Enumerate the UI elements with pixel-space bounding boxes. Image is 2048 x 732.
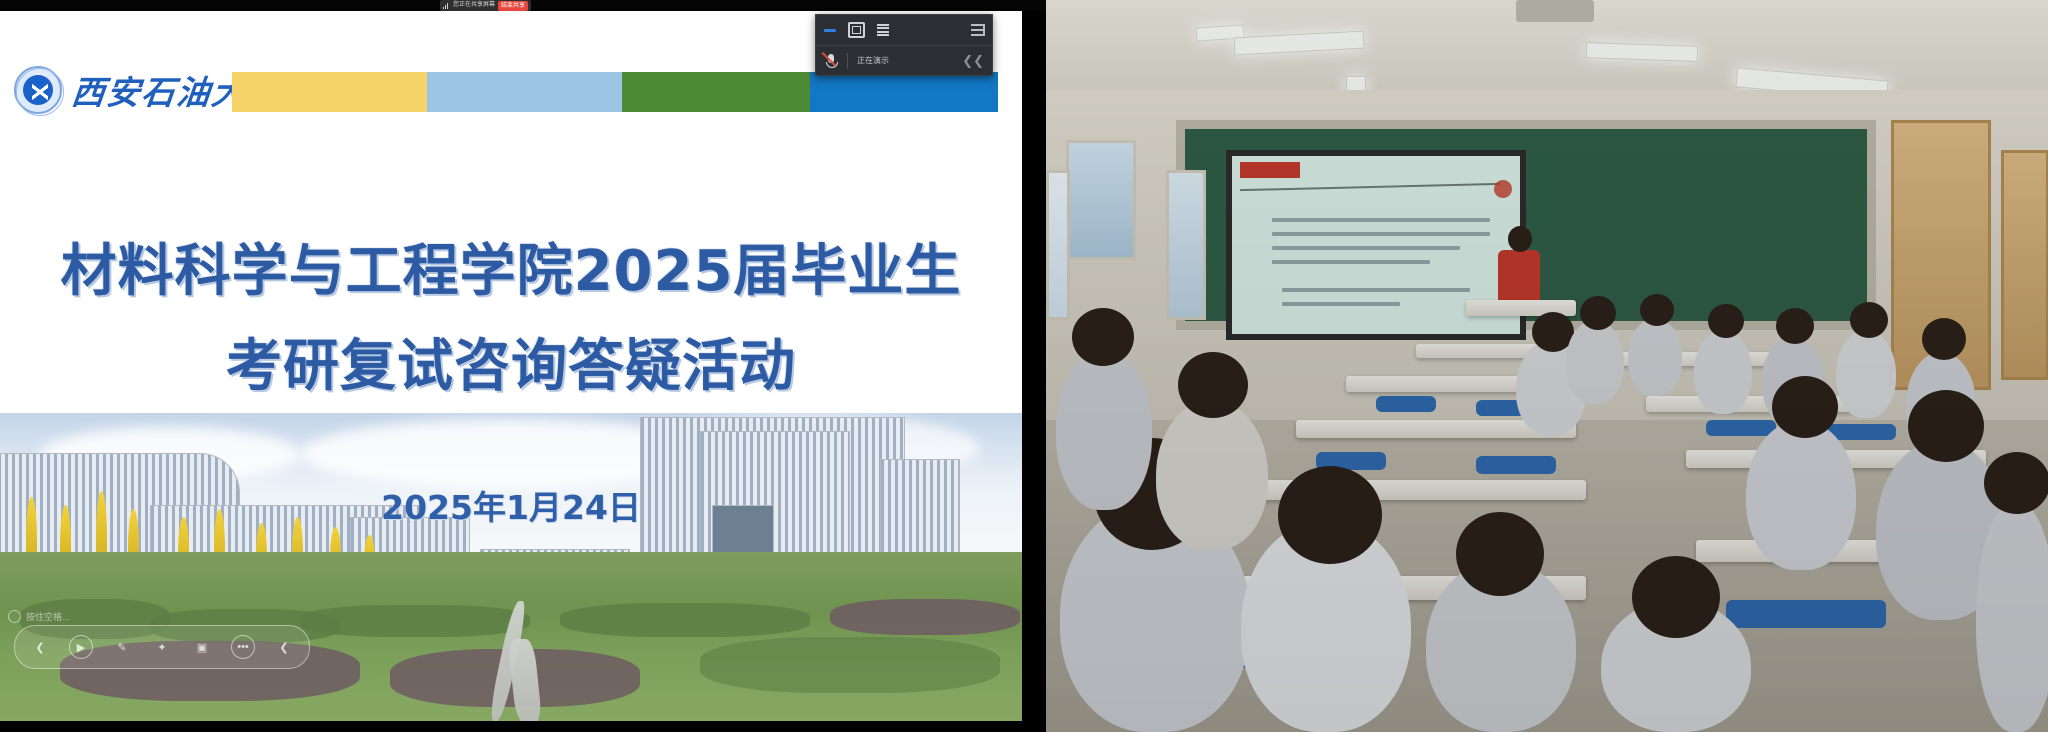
xsyu-university-seal-icon bbox=[14, 66, 62, 114]
student-head bbox=[1072, 308, 1134, 366]
projected-slide-accent bbox=[1240, 162, 1300, 178]
stop-share-button[interactable]: 结束共享 bbox=[498, 1, 528, 11]
minimize-icon[interactable] bbox=[824, 29, 836, 32]
side-window bbox=[1166, 170, 1206, 320]
restore-window-icon[interactable] bbox=[848, 22, 865, 38]
student-chair bbox=[1376, 396, 1436, 412]
bar-lightblue bbox=[427, 72, 622, 112]
projected-slide-badge bbox=[1494, 180, 1512, 198]
slide-title-line-1: 材料科学与工程学院2025届毕业生 bbox=[0, 226, 1022, 307]
bar-blue bbox=[810, 72, 998, 112]
presenter-hint: 按住空格... bbox=[8, 610, 70, 623]
camera-button[interactable]: ▣ bbox=[191, 636, 213, 658]
presenter-hint-text: 按住空格... bbox=[26, 610, 70, 623]
play-slideshow-button[interactable]: ▶ bbox=[69, 635, 93, 659]
student-chair bbox=[1476, 456, 1556, 474]
student-head bbox=[1456, 512, 1544, 596]
slide-canvas: 西安石油大學 材料科学与工程学院2025届毕业生 考研复试咨询答疑活动 bbox=[0, 11, 1022, 721]
more-options-button[interactable]: ••• bbox=[231, 635, 255, 659]
student-head bbox=[1178, 352, 1248, 418]
student-head bbox=[1922, 318, 1966, 360]
expand-panel-icon[interactable] bbox=[971, 24, 984, 36]
laser-pointer-button[interactable]: ✦ bbox=[151, 636, 173, 658]
student-head bbox=[1580, 296, 1616, 330]
student-head bbox=[1908, 390, 1984, 462]
student-head bbox=[1850, 302, 1888, 338]
student-head bbox=[1984, 452, 2048, 514]
student-head bbox=[1708, 304, 1744, 338]
bar-yellow bbox=[232, 72, 427, 112]
screen-share-banner[interactable]: 您正在共享屏幕 结束共享 bbox=[440, 0, 531, 11]
seated-students bbox=[1056, 350, 1152, 510]
side-window bbox=[1046, 170, 1070, 320]
student-head bbox=[1278, 466, 1382, 564]
chevron-double-left-icon[interactable]: ❮❮ bbox=[962, 54, 984, 67]
slide-date: 2025年1月24日 bbox=[0, 481, 1022, 529]
bar-green bbox=[622, 72, 810, 112]
student-chair bbox=[1726, 600, 1886, 628]
toolbar-window-controls[interactable] bbox=[816, 15, 992, 46]
seated-students bbox=[1566, 320, 1624, 404]
seated-students bbox=[1628, 318, 1682, 396]
seated-students bbox=[1746, 420, 1856, 570]
presenter-control-bar[interactable]: ❮ ▶ ✎ ✦ ▣ ••• ❮ bbox=[14, 625, 310, 669]
student-head bbox=[1632, 556, 1720, 638]
seated-students bbox=[1156, 400, 1268, 550]
student-chair bbox=[1706, 420, 1776, 436]
collapse-bar-button[interactable]: ❮ bbox=[273, 636, 295, 658]
projected-slide-rule bbox=[1240, 183, 1500, 191]
student-head bbox=[1772, 376, 1838, 438]
share-banner-label: 您正在共享屏幕 bbox=[453, 0, 495, 11]
seated-students bbox=[1976, 500, 2048, 732]
classroom-photo-pane bbox=[1046, 0, 2048, 732]
side-window bbox=[1066, 140, 1136, 260]
projector bbox=[1516, 0, 1594, 22]
meeting-floating-toolbar[interactable]: 正在演示 ❮❮ bbox=[815, 14, 993, 76]
participants-list-icon[interactable] bbox=[877, 24, 889, 36]
shared-screen-pane: 您正在共享屏幕 结束共享 西安石油大學 材料科学与工程学院2025届毕业生 bbox=[0, 0, 1046, 732]
top-black-strip: 您正在共享屏幕 结束共享 bbox=[0, 0, 1046, 11]
seated-students bbox=[1836, 330, 1896, 418]
hint-icon bbox=[8, 610, 21, 623]
student-head bbox=[1776, 308, 1814, 344]
divider bbox=[847, 53, 848, 69]
student-head bbox=[1640, 294, 1674, 326]
annotation-pen-button[interactable]: ✎ bbox=[111, 636, 133, 658]
toolbar-status-row[interactable]: 正在演示 ❮❮ bbox=[816, 46, 992, 75]
previous-slide-button[interactable]: ❮ bbox=[29, 636, 51, 658]
campus-photo: 按住空格... ❮ ▶ ✎ ✦ ▣ ••• ❮ bbox=[0, 413, 1022, 721]
seated-students bbox=[1694, 330, 1752, 414]
microphone-muted-icon[interactable] bbox=[824, 53, 838, 69]
student-desk bbox=[1226, 480, 1586, 500]
screenshot-root: 您正在共享屏幕 结束共享 西安石油大學 材料科学与工程学院2025届毕业生 bbox=[0, 0, 2048, 732]
classroom-door bbox=[2001, 150, 2048, 380]
slide-title-line-2: 考研复试咨询答疑活动 bbox=[0, 321, 1022, 402]
signal-bars-icon bbox=[443, 2, 450, 9]
toolbar-status-text: 正在演示 bbox=[857, 55, 889, 66]
presenter-head bbox=[1508, 226, 1532, 252]
decorative-color-bar bbox=[232, 72, 998, 112]
